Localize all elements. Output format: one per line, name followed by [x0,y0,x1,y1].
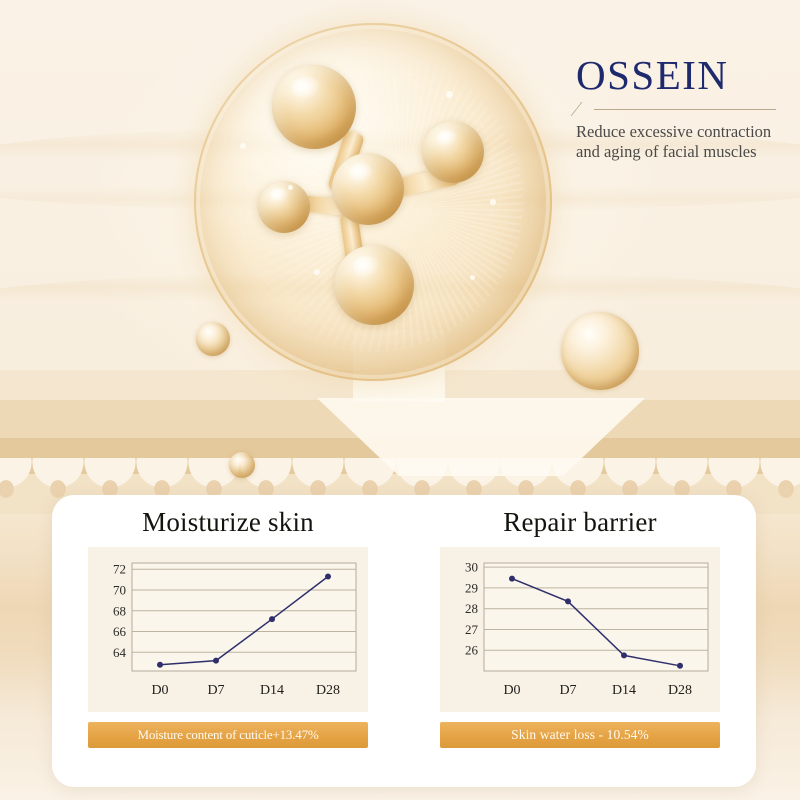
svg-text:D14: D14 [260,683,284,698]
molecule-sphere-center [332,153,404,225]
brand-block: OSSEIN Reduce excessive contraction and … [576,55,786,163]
svg-text:70: 70 [113,583,126,598]
molecule-sphere-bottom [334,245,414,325]
bubble-speck-6 [470,275,475,280]
panel-moisturize-skin: Moisturize skin 6466687072D0D7D14D28 Moi… [52,495,404,787]
bubble-speck-5 [314,269,320,275]
results-card: Moisturize skin 6466687072D0D7D14D28 Moi… [52,495,756,787]
svg-text:26: 26 [465,643,479,658]
bubble-speck-3 [288,185,293,190]
svg-text:D28: D28 [316,683,340,698]
results-panels: Moisturize skin 6466687072D0D7D14D28 Moi… [52,495,756,787]
ossein-molecule-bubble [194,23,552,381]
serum-droplet-large [561,312,639,390]
svg-text:D0: D0 [151,683,168,698]
svg-text:28: 28 [465,601,478,616]
svg-text:D0: D0 [503,683,520,698]
chart-moisturize-skin: 6466687072D0D7D14D28 [88,547,368,712]
svg-text:30: 30 [465,560,478,575]
svg-text:D28: D28 [668,683,692,698]
svg-text:D14: D14 [612,683,636,698]
poster-canvas: OSSEIN Reduce excessive contraction and … [0,0,800,800]
svg-text:27: 27 [465,622,479,637]
molecule-sphere-right [422,121,484,183]
chart-repair-barrier: 2627282930D0D7D14D28 [440,547,720,712]
brand-divider [576,102,786,118]
banner-moisture-content: Moisture content of cuticle+13.47% [88,722,368,748]
bubble-speck-2 [240,143,246,149]
molecule-sphere-top [272,65,356,149]
banner-water-loss: Skin water loss - 10.54% [440,722,720,748]
brand-divider-line [594,109,776,110]
serum-droplet-tiny [229,452,255,478]
svg-text:66: 66 [113,624,127,639]
svg-text:29: 29 [465,580,478,595]
svg-text:68: 68 [113,603,126,618]
svg-text:64: 64 [113,645,127,660]
svg-text:D7: D7 [207,683,224,698]
molecule-sphere-left [258,181,310,233]
brand-tagline: Reduce excessive contraction and aging o… [576,122,786,163]
brand-name: OSSEIN [576,55,786,96]
panel-title-moisturize: Moisturize skin [52,507,404,538]
svg-text:72: 72 [113,562,126,577]
chart-repair-svg: 2627282930D0D7D14D28 [440,547,720,712]
bubble-speck-1 [446,91,453,98]
panel-title-repair: Repair barrier [404,507,756,538]
bubble-speck-4 [490,199,496,205]
svg-text:D7: D7 [559,683,576,698]
chart-moisturize-svg: 6466687072D0D7D14D28 [88,547,368,712]
panel-repair-barrier: Repair barrier 2627282930D0D7D14D28 Skin… [404,495,756,787]
serum-droplet-small [196,322,230,356]
absorption-arrow-head [317,398,645,476]
